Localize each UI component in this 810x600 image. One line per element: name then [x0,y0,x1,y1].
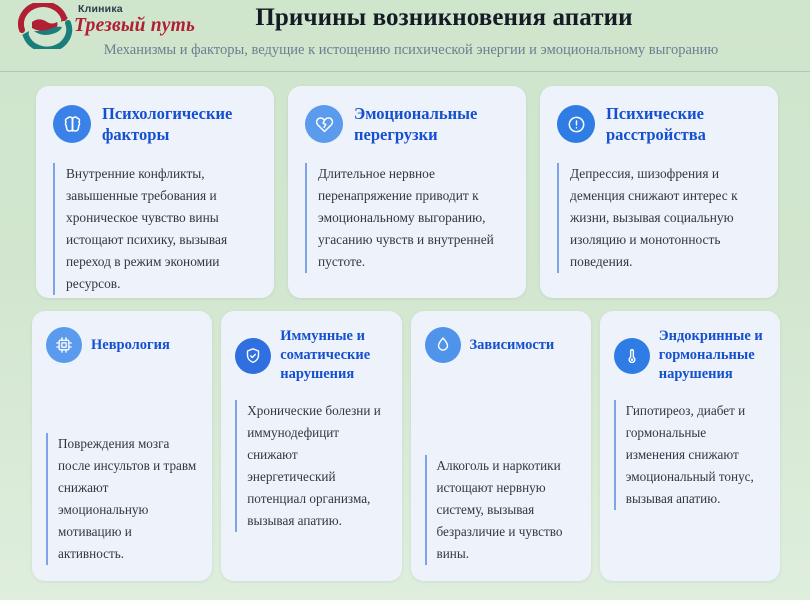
card-neurology: Неврология Повреждения мозга после инсул… [32,311,212,581]
cpu-chip-icon [46,327,82,363]
header-divider [0,71,810,72]
card-title: Психические расстройства [606,103,760,145]
card-spacer [235,532,387,569]
shield-check-icon [235,338,271,374]
page-subtitle: Механизмы и факторы, ведущие к истощению… [0,42,810,59]
cards-row-bottom: Неврология Повреждения мозга после инсул… [0,298,810,581]
card-text: Внутренние конфликты, завышенные требова… [53,163,256,295]
card-title: Эндокринные и гормональные нарушения [659,327,766,384]
card-title: Неврология [91,336,170,355]
infographic-page: Клиника Трезвый путь Причины возникновен… [0,0,810,600]
card-header: Эмоциональные перегрузки [305,103,508,145]
card-spacer [305,273,508,284]
card-text: Длительное нервное перенапряжение привод… [305,163,508,273]
page-title: Причины возникновения апатии [0,4,810,32]
brain-icon [53,105,91,143]
broken-heart-icon [305,105,343,143]
card-header: Иммунные и соматические нарушения [235,327,387,384]
card-emotional-overload: Эмоциональные перегрузки Длительное нерв… [288,86,526,298]
card-title: Иммунные и соматические нарушения [280,327,387,384]
card-header: Зависимости [425,327,577,363]
cards-row-top: Психологические факторы Внутренние конфл… [0,72,810,298]
card-bottom-pad [425,565,577,569]
card-title: Психологические факторы [102,103,256,145]
card-text: Гипотиреоз, диабет и гормональные измене… [614,400,766,510]
page-header: Клиника Трезвый путь Причины возникновен… [0,0,810,72]
thermometer-icon [614,338,650,374]
card-spacer [46,363,198,417]
exclamation-circle-icon [557,105,595,143]
card-header: Эндокринные и гормональные нарушения [614,327,766,384]
card-spacer [557,273,760,284]
card-spacer [425,363,577,439]
water-drop-icon [425,327,461,363]
card-psychological-factors: Психологические факторы Внутренние конфл… [36,86,274,298]
card-text: Повреждения мозга после инсультов и трав… [46,433,198,565]
card-text: Депрессия, шизофрения и деменция снижают… [557,163,760,273]
card-header: Неврология [46,327,198,363]
card-header: Психические расстройства [557,103,760,145]
card-addictions: Зависимости Алкоголь и наркотики истощаю… [411,311,591,581]
card-header: Психологические факторы [53,103,256,145]
card-title: Зависимости [470,336,555,355]
card-text: Хронические болезни и иммунодефицит сниж… [235,400,387,532]
card-immune-somatic-disorders: Иммунные и соматические нарушения Хронич… [221,311,401,581]
card-mental-disorders: Психические расстройства Депрессия, шизо… [540,86,778,298]
card-spacer [614,510,766,569]
card-title: Эмоциональные перегрузки [354,103,508,145]
card-bottom-pad [46,565,198,569]
card-endocrine-hormonal-disorders: Эндокринные и гормональные нарушения Гип… [600,311,780,581]
card-text: Алкоголь и наркотики истощают нервную си… [425,455,577,565]
